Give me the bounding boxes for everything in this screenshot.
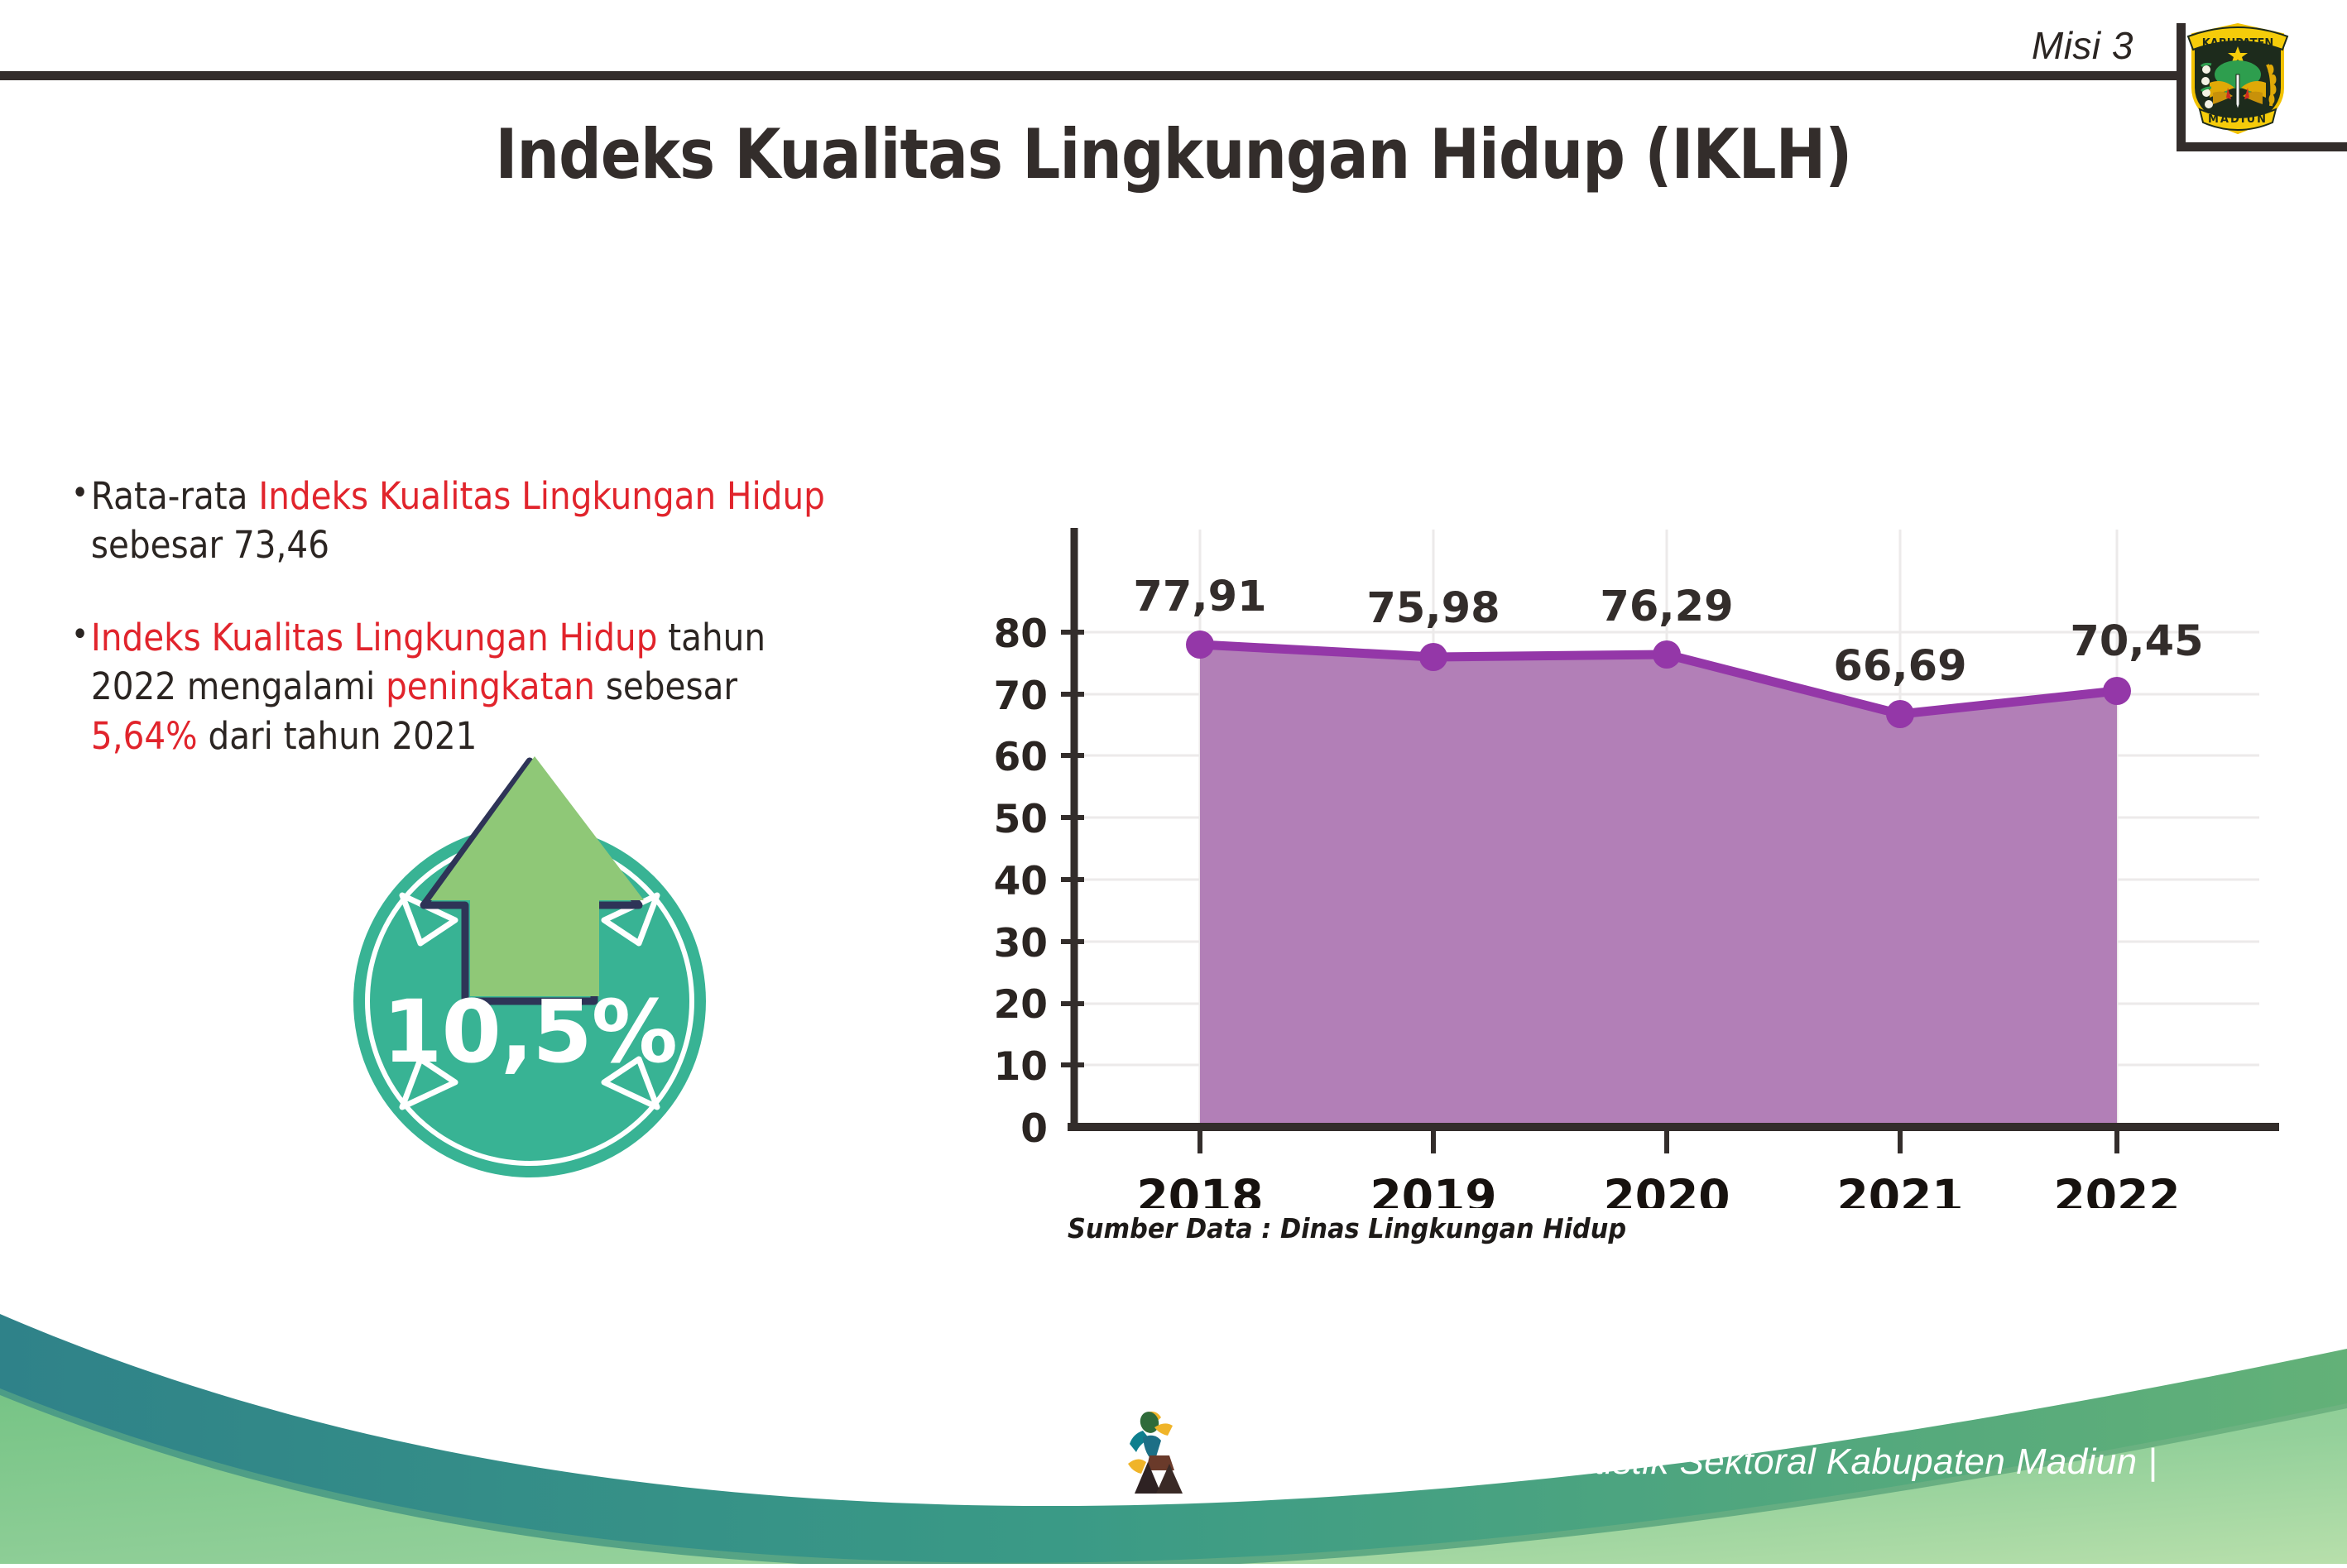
bullet-segment: sebesar 73,46 [91,523,329,567]
bullet-segment-highlight: Indeks Kualitas Lingkungan Hidup [91,616,657,659]
page-title: Indeks Kualitas Lingkungan Hidup (IKLH) [152,114,2194,194]
data-label: 70,45 [2070,617,2203,666]
y-tick-label: 70 [994,674,1048,719]
x-tick-label: 2020 [1603,1170,1730,1208]
bullet-item: • Rata-rata Indeks Kualitas Lingkungan H… [71,472,846,570]
bullet-segment-highlight: 5,64% [91,714,198,758]
y-tick-label: 20 [994,982,1048,1028]
chart-source-note: Sumber Data : Dinas Lingkungan Hidup [1068,1212,1626,1244]
y-tick-label: 30 [994,921,1048,966]
bullet-segment-highlight: Indeks Kualitas Lingkungan Hidup [258,474,824,518]
iklh-area-chart: 0 10 20 30 40 50 60 70 80 2018 2019 2020… [952,281,2292,1208]
bullet-text: Rata-rata Indeks Kualitas Lingkungan Hid… [91,472,846,570]
bullet-marker-icon: • [71,472,89,515]
y-tick-label: 60 [994,735,1048,780]
bullet-item: • Indeks Kualitas Lingkungan Hidup tahun… [71,613,846,760]
data-label: 76,29 [1600,583,1733,631]
kabupaten-madiun-logo-icon: KABUPATEN MADIUN [2177,12,2299,137]
badge-percent-label: 10,5% [323,981,737,1082]
x-tick-label: 2021 [1836,1170,1963,1208]
increase-badge: 10,5% [323,745,737,1208]
bullet-segment-highlight: peningkatan [386,664,595,708]
y-tick-label: 40 [994,859,1048,904]
bullet-marker-icon: • [71,613,89,657]
header-divider-line [0,71,2185,80]
footer-label: Media Infografis Data Statistik Sektoral… [1175,1441,2157,1483]
data-label: 66,69 [1833,642,1966,691]
y-tick-label: 50 [994,797,1048,842]
bullet-segment: sebesar [595,664,737,708]
x-tick-label: 2022 [2053,1170,2180,1208]
y-tick-label: 10 [994,1044,1048,1090]
bullet-text: Indeks Kualitas Lingkungan Hidup tahun 2… [91,613,846,760]
bullet-segment: Rata-rata [91,474,258,518]
y-tick-label: 80 [994,611,1048,657]
data-label: 77,91 [1133,573,1266,621]
chart-area-fill [1200,645,2117,1127]
y-tick-label: 0 [1020,1106,1048,1152]
svg-text:MADIUN: MADIUN [2208,113,2268,126]
misi-label: Misi 3 [2032,23,2133,68]
data-label: 75,98 [1366,584,1500,633]
x-tick-label: 2018 [1136,1170,1263,1208]
x-tick-label: 2019 [1370,1170,1496,1208]
